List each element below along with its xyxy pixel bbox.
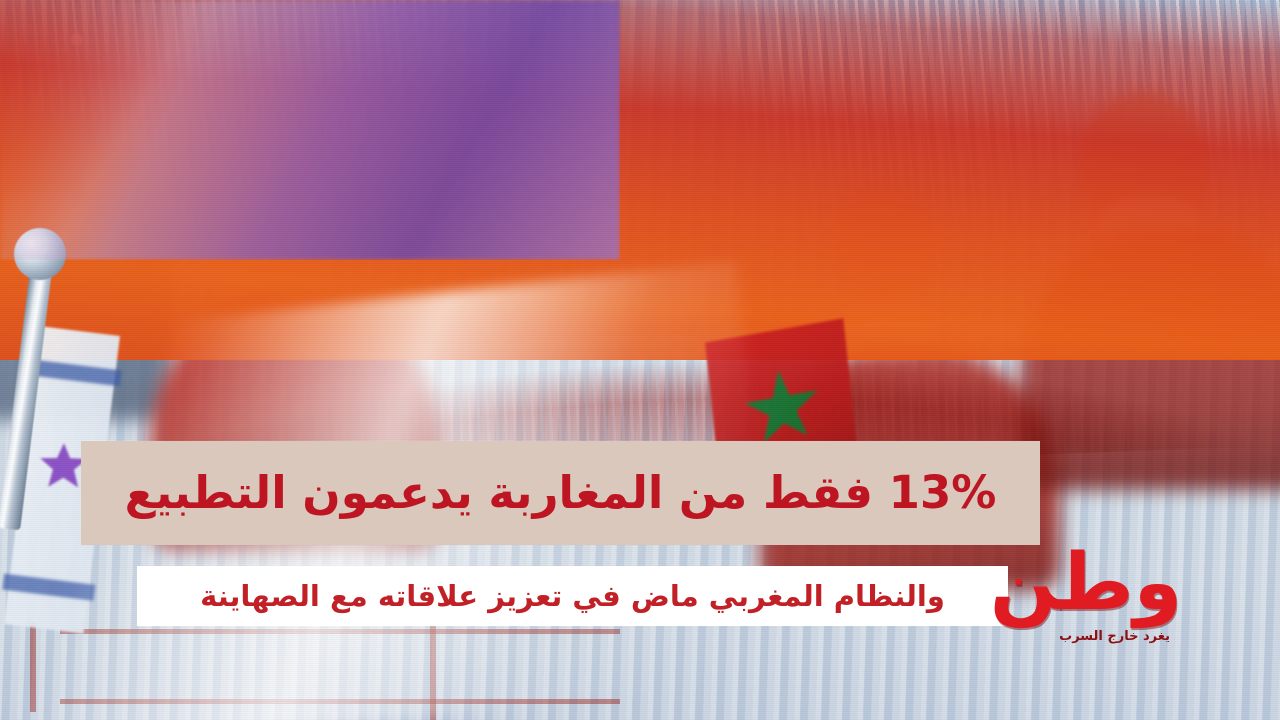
headline-bar: 13% فقط من المغاربة يدعمون التطبيع <box>81 441 1040 545</box>
violet-light-sweep <box>0 0 620 260</box>
logo-wordmark: وطن <box>988 548 1184 620</box>
headline-text: 13% فقط من المغاربة يدعمون التطبيع <box>125 469 997 516</box>
subheadline-bar: والنظام المغربي ماض في تعزيز علاقاته مع … <box>137 566 1008 626</box>
logo-tagline: يغرد خارج السرب <box>1059 629 1170 644</box>
subheadline-text: والنظام المغربي ماض في تعزيز علاقاته مع … <box>200 581 945 611</box>
watan-logo[interactable]: وطن يغرد خارج السرب <box>988 548 1184 648</box>
news-graphic-card: 13% فقط من المغاربة يدعمون التطبيع والنظ… <box>0 0 1280 720</box>
